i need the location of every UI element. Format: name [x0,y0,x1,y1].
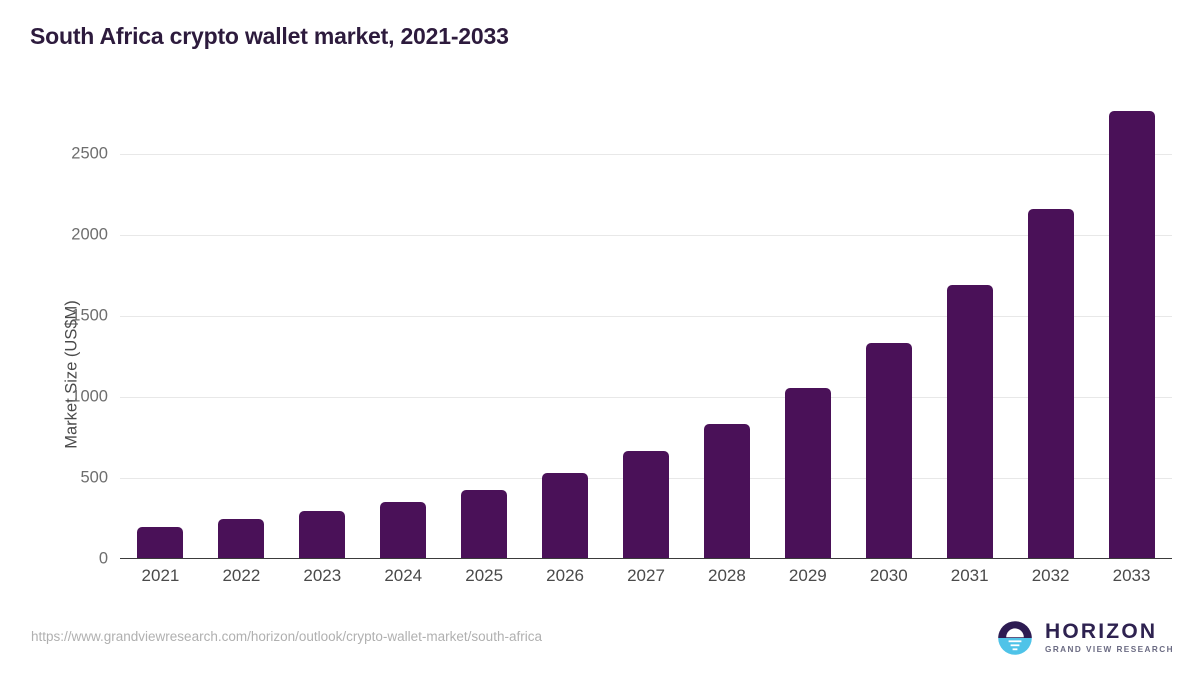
bar-group [606,100,687,559]
bar[interactable] [866,343,912,559]
bar-group [1010,100,1091,559]
x-tick-label: 2025 [444,566,525,586]
x-tick-label: 2027 [606,566,687,586]
logo-text: HORIZON GRAND VIEW RESEARCH [1045,621,1174,654]
y-tick-label: 1500 [38,307,108,326]
bar[interactable] [704,424,750,559]
x-tick-label: 2029 [767,566,848,586]
y-tick-label: 2500 [38,145,108,164]
bar[interactable] [1028,209,1074,559]
x-tick-label: 2024 [363,566,444,586]
bar-group [201,100,282,559]
bar-group [686,100,767,559]
source-url[interactable]: https://www.grandviewresearch.com/horizo… [31,629,542,644]
bar-group [120,100,201,559]
y-axis-title: Market Size (US$M) [63,195,82,555]
bar[interactable] [299,511,345,559]
plot-area [120,100,1172,559]
y-tick-label: 2000 [38,226,108,245]
bar-group [929,100,1010,559]
x-tick-label: 2028 [686,566,767,586]
bar-group [525,100,606,559]
bar-group [444,100,525,559]
x-axis-line [120,558,1172,560]
bar[interactable] [461,490,507,559]
bar[interactable] [542,473,588,559]
bar[interactable] [947,285,993,559]
bar[interactable] [623,451,669,559]
bar[interactable] [380,502,426,559]
page-title: South Africa crypto wallet market, 2021-… [30,23,509,50]
bar-group [363,100,444,559]
y-axis: Market Size (US$M) 05001000150020002500 [32,100,108,559]
x-tick-label: 2026 [525,566,606,586]
horizon-logo[interactable]: HORIZON GRAND VIEW RESEARCH [995,617,1174,659]
x-tick-label: 2023 [282,566,363,586]
bar[interactable] [218,519,264,559]
bar-group [1091,100,1172,559]
x-tick-label: 2022 [201,566,282,586]
logo-wordmark: HORIZON [1045,621,1174,642]
x-tick-label: 2030 [848,566,929,586]
x-axis-tick-labels: 2021202220232024202520262027202820292030… [120,566,1172,596]
bar-group [848,100,929,559]
y-tick-label: 1000 [38,388,108,407]
x-tick-label: 2033 [1091,566,1172,586]
bar[interactable] [1109,111,1155,559]
y-tick-label: 500 [38,469,108,488]
bar[interactable] [785,388,831,559]
logo-tagline: GRAND VIEW RESEARCH [1045,646,1174,654]
x-tick-label: 2021 [120,566,201,586]
bar-group [767,100,848,559]
bar[interactable] [137,527,183,559]
bar-group [282,100,363,559]
x-tick-label: 2032 [1010,566,1091,586]
y-tick-label: 0 [38,550,108,569]
bar-series [120,100,1172,559]
horizon-mark-icon [995,618,1035,658]
x-tick-label: 2031 [929,566,1010,586]
chart-canvas: South Africa crypto wallet market, 2021-… [0,0,1200,675]
